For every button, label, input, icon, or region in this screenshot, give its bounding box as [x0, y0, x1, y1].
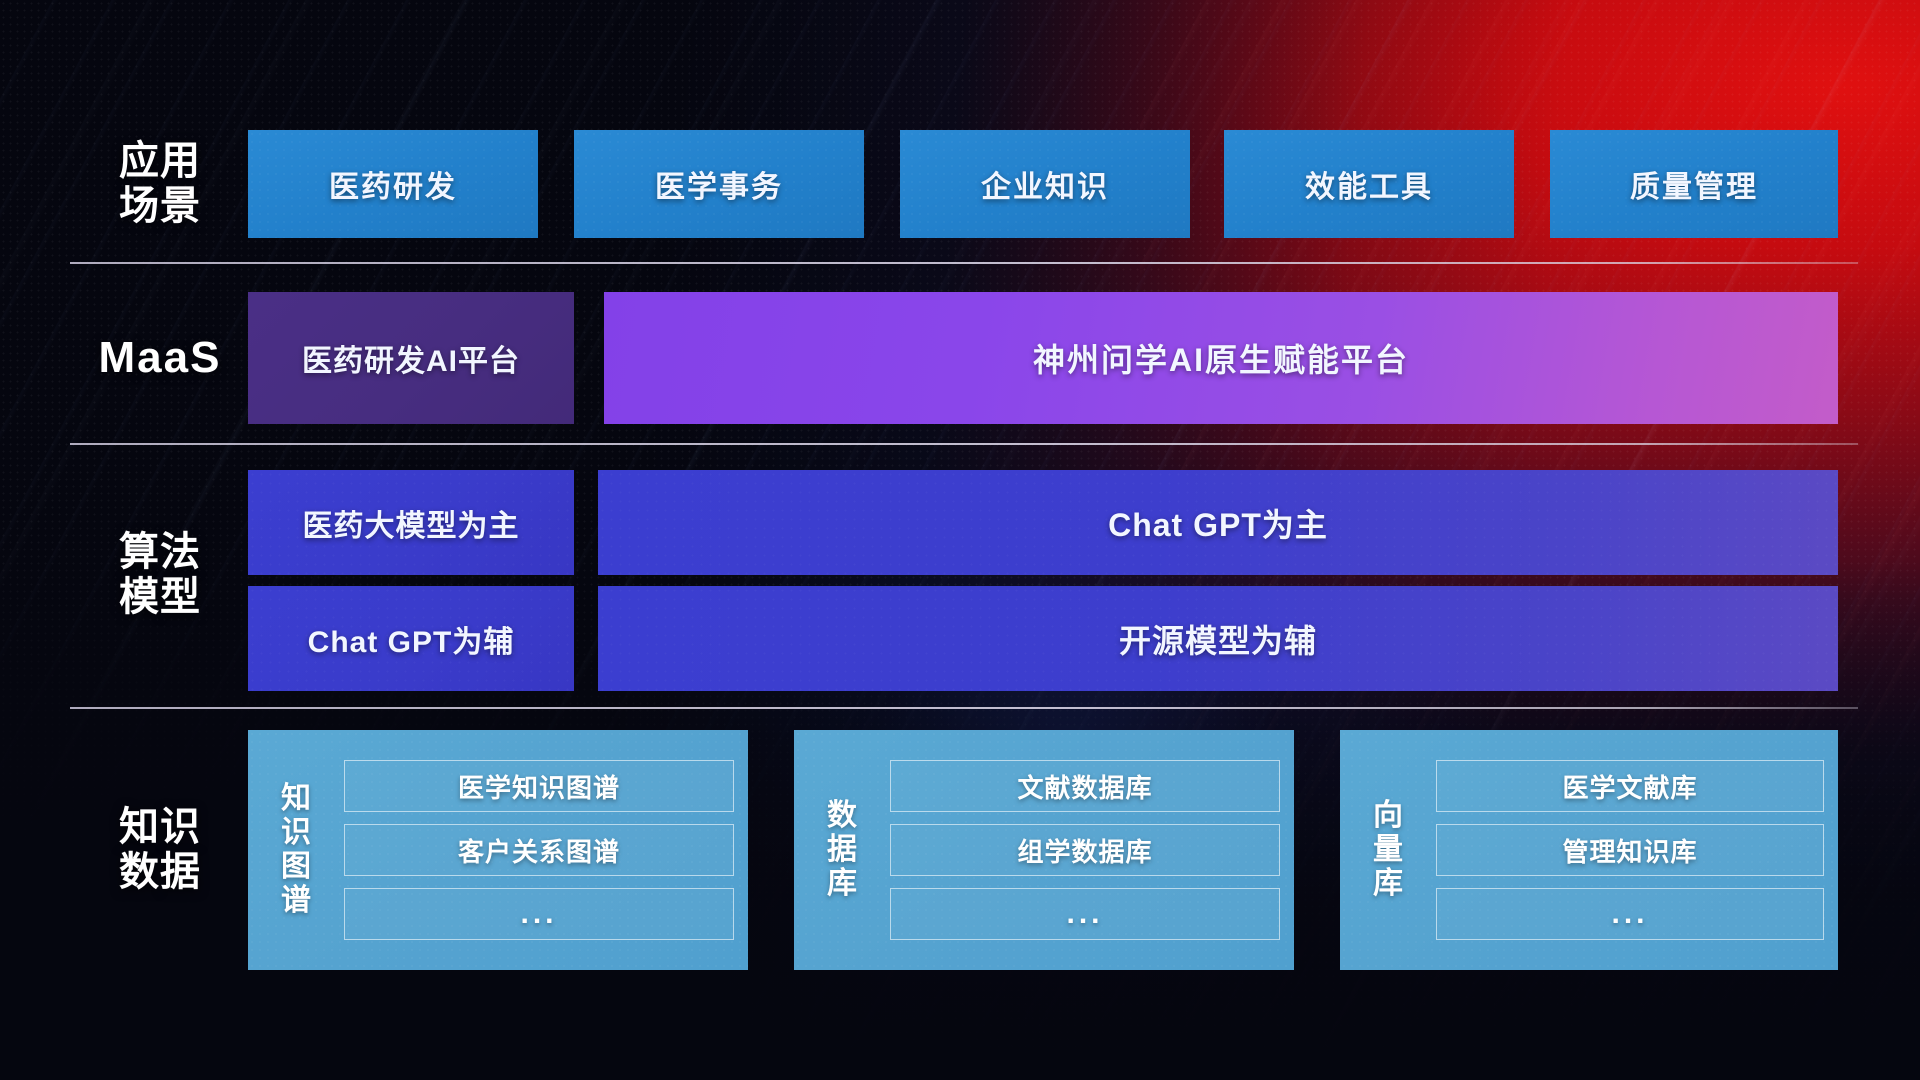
app-box-3[interactable]: 企业知识 — [900, 130, 1190, 238]
maas-right-box[interactable]: 神州问学AI原生赋能平台 — [604, 292, 1838, 424]
knowledge-group-vector[interactable]: 向 量 库 医学文献库 管理知识库 ... — [1340, 730, 1838, 970]
app-box-1[interactable]: 医药研发 — [248, 130, 538, 238]
app-box-4-label: 效能工具 — [1305, 162, 1433, 206]
knowledge-item[interactable]: 管理知识库 — [1436, 824, 1824, 876]
knowledge-item[interactable]: 客户关系图谱 — [344, 824, 734, 876]
knowledge-group-vector-items: 医学文献库 管理知识库 ... — [1426, 760, 1824, 940]
maas-right-label: 神州问学AI原生赋能平台 — [1033, 335, 1409, 381]
algo-box-row1-right-label: Chat GPT为主 — [1108, 500, 1328, 546]
knowledge-item-more[interactable]: ... — [1436, 888, 1824, 940]
maas-left-label: 医药研发AI平台 — [302, 336, 520, 380]
slide-canvas: 应用 场景 医药研发 医学事务 企业知识 效能工具 质量管理 MaaS 医药研发… — [0, 0, 1920, 1080]
algo-box-row2-left-label: Chat GPT为辅 — [308, 617, 515, 661]
knowledge-group-database-title: 数 据 库 — [804, 799, 880, 902]
app-box-2-label: 医学事务 — [655, 162, 783, 206]
app-box-5-label: 质量管理 — [1630, 162, 1758, 206]
algo-box-row1-left[interactable]: 医药大模型为主 — [248, 470, 574, 575]
algo-box-row1-right[interactable]: Chat GPT为主 — [598, 470, 1838, 575]
knowledge-group-database[interactable]: 数 据 库 文献数据库 组学数据库 ... — [794, 730, 1294, 970]
knowledge-group-database-items: 文献数据库 组学数据库 ... — [880, 760, 1280, 940]
app-box-1-label: 医药研发 — [329, 162, 457, 206]
row-label-algorithm: 算法 模型 — [70, 470, 250, 680]
knowledge-item-more[interactable]: ... — [344, 888, 734, 940]
algo-box-row2-right-label: 开源模型为辅 — [1119, 616, 1317, 662]
app-box-2[interactable]: 医学事务 — [574, 130, 864, 238]
app-box-3-label: 企业知识 — [981, 162, 1109, 206]
knowledge-item[interactable]: 文献数据库 — [890, 760, 1280, 812]
knowledge-item[interactable]: 医学知识图谱 — [344, 760, 734, 812]
knowledge-group-graph-items: 医学知识图谱 客户关系图谱 ... — [334, 760, 734, 940]
app-box-4[interactable]: 效能工具 — [1224, 130, 1514, 238]
divider-application — [70, 262, 1858, 264]
knowledge-group-graph-title: 知 识 图 谱 — [258, 782, 334, 919]
algo-box-row1-left-label: 医药大模型为主 — [303, 501, 520, 545]
row-label-knowledge: 知识 数据 — [70, 730, 250, 970]
architecture-diagram: 应用 场景 医药研发 医学事务 企业知识 效能工具 质量管理 MaaS 医药研发… — [0, 0, 1920, 1080]
divider-maas — [70, 443, 1858, 445]
algo-box-row2-left[interactable]: Chat GPT为辅 — [248, 586, 574, 691]
algo-box-row2-right[interactable]: 开源模型为辅 — [598, 586, 1838, 691]
app-box-5[interactable]: 质量管理 — [1550, 130, 1838, 238]
knowledge-group-graph[interactable]: 知 识 图 谱 医学知识图谱 客户关系图谱 ... — [248, 730, 748, 970]
knowledge-group-vector-title: 向 量 库 — [1350, 799, 1426, 902]
knowledge-item-more[interactable]: ... — [890, 888, 1280, 940]
knowledge-item[interactable]: 组学数据库 — [890, 824, 1280, 876]
row-label-maas: MaaS — [70, 292, 250, 424]
row-label-application: 应用 场景 — [70, 128, 250, 240]
knowledge-item[interactable]: 医学文献库 — [1436, 760, 1824, 812]
maas-left-box[interactable]: 医药研发AI平台 — [248, 292, 574, 424]
divider-algorithm — [70, 707, 1858, 709]
